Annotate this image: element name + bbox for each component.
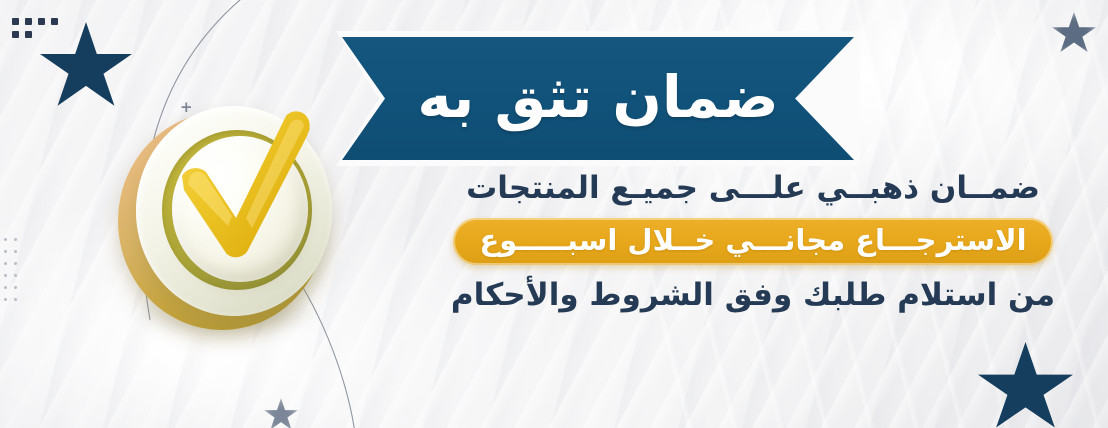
highlight-badge: الاسترجـــاع مجانـــي خــلال اسبـــــوع [453,218,1052,265]
copy-block: ضمــان ذهبــي علـــى جميـع المنتجات الاس… [438,168,1068,316]
checkmark-icon [162,110,322,290]
highlight-row: الاسترجـــاع مجانـــي خــلال اسبـــــوع [438,218,1068,265]
page-title: ضمان تثق به [336,31,860,166]
copy-line-1: ضمــان ذهبــي علـــى جميـع المنتجات [438,168,1068,209]
gold-check-badge [110,96,342,348]
ribbon-banner: ضمان تثق به [336,31,860,166]
copy-line-3: من استلام طلبك وفق الشروط والأحكام [438,275,1068,316]
guarantee-banner: + [0,0,1108,428]
